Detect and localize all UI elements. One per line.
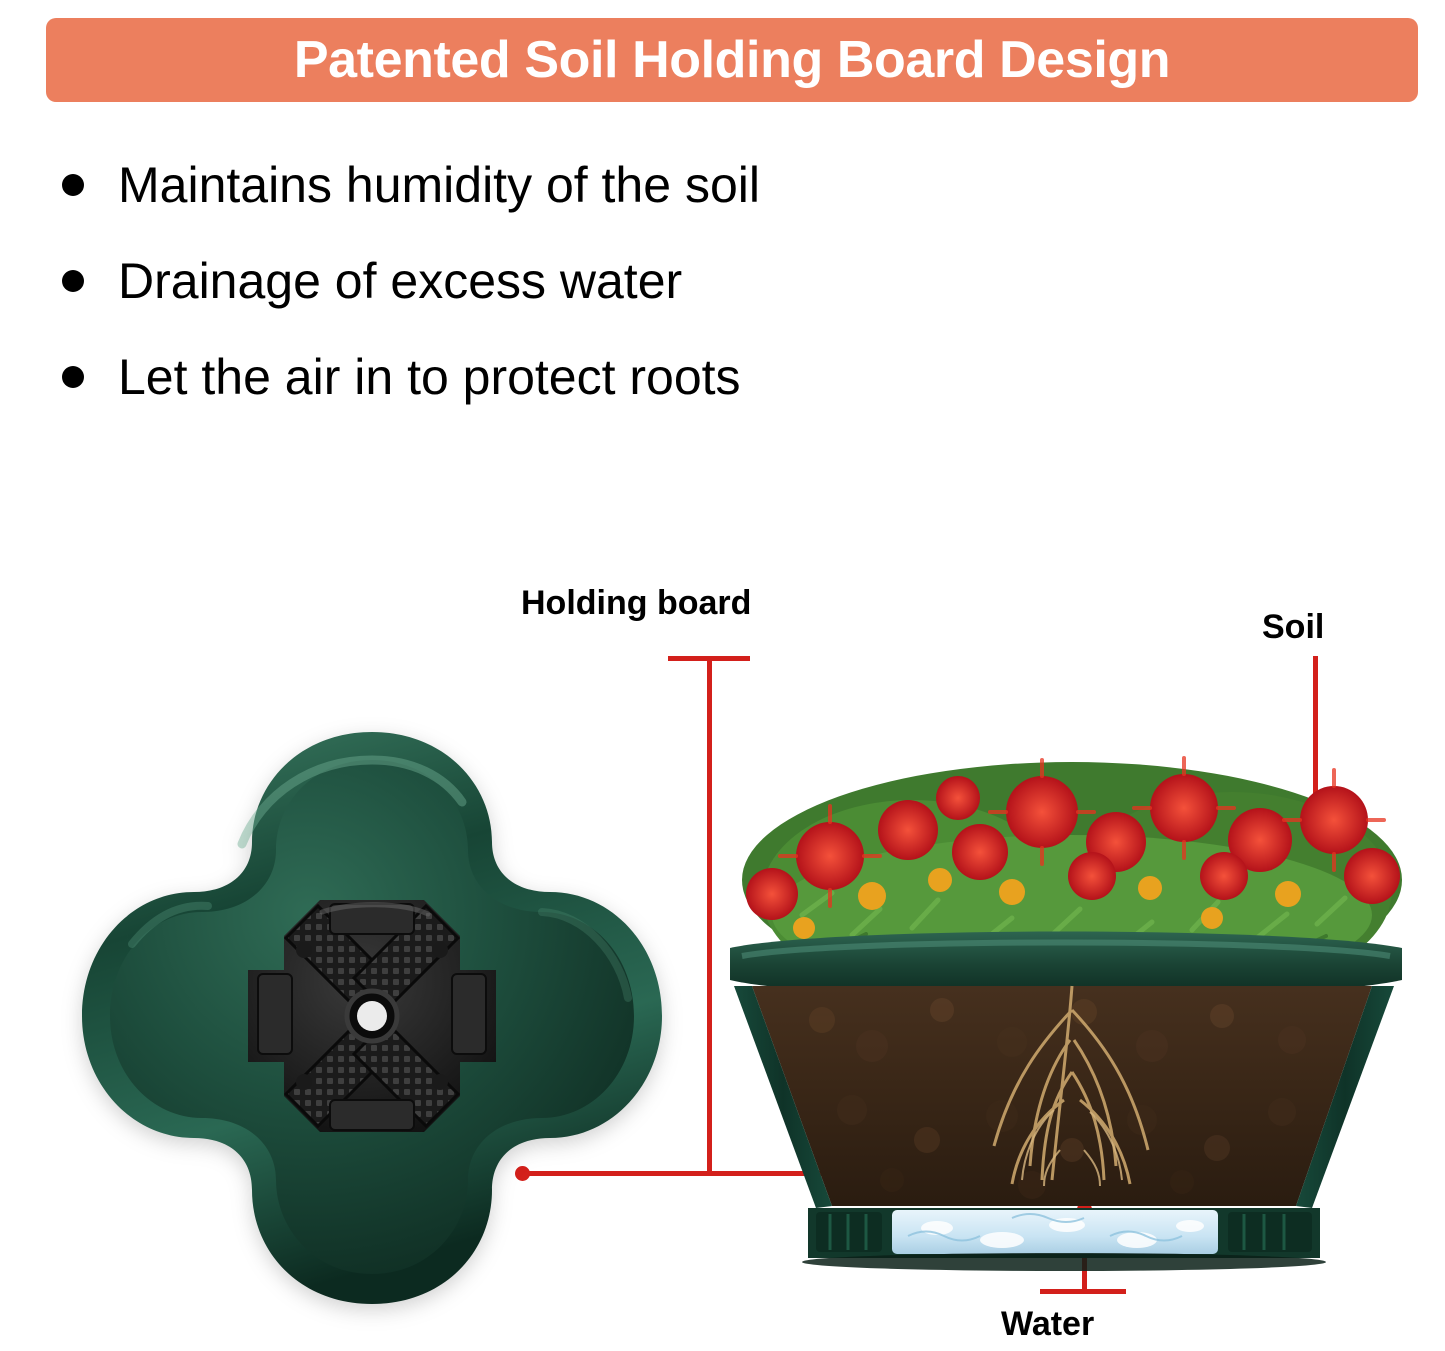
feature-text: Let the air in to protect roots [118,342,741,412]
list-item: Maintains humidity of the soil [62,150,1162,222]
leader-line-water [1040,1289,1126,1294]
product-diagram: Holding board Soil Water [0,560,1445,1351]
holding-board-top-view-image [72,724,672,1314]
planter-cross-section-illustration [712,680,1412,1280]
pot-cross-section-image [712,680,1412,1280]
bullet-dot-icon [62,366,84,388]
feature-text: Maintains humidity of the soil [118,150,760,220]
page-title: Patented Soil Holding Board Design [294,34,1170,86]
feature-text: Drainage of excess water [118,246,682,316]
bullet-dot-icon [62,270,84,292]
list-item: Drainage of excess water [62,246,1162,318]
bullet-dot-icon [62,174,84,196]
header-banner: Patented Soil Holding Board Design [46,18,1418,102]
clover-planter-illustration [72,724,672,1314]
callout-label-soil: Soil [1262,608,1324,647]
callout-label-holding-board: Holding board [521,584,751,623]
callout-label-water: Water [1001,1305,1094,1344]
feature-list: Maintains humidity of the soil Drainage … [62,150,1162,438]
list-item: Let the air in to protect roots [62,342,1162,414]
